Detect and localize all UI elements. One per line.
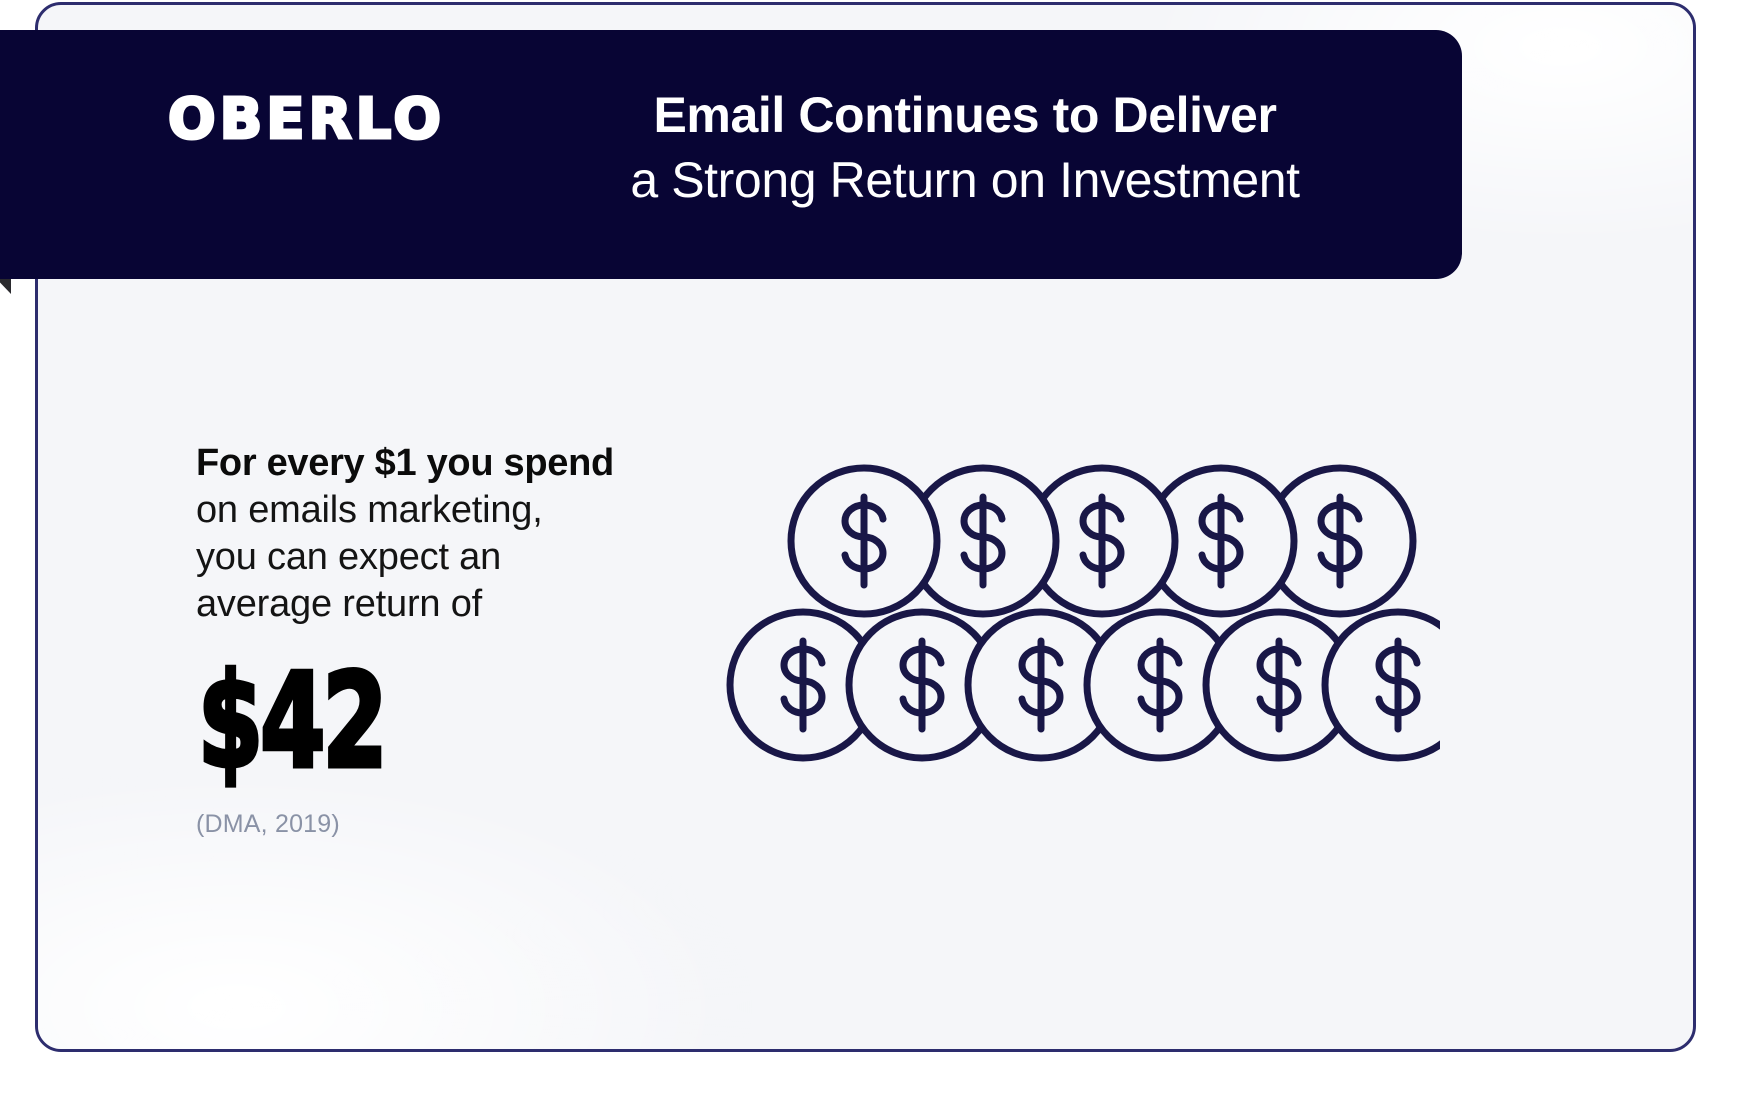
infographic-root: OBERLO Email Continues to Deliver a Stro… (0, 0, 1740, 1105)
oberlo-wordmark-icon: OBERLO (168, 92, 445, 148)
page-title: Email Continues to Deliver a Strong Retu… (500, 86, 1430, 210)
top-row-coins (791, 468, 1413, 614)
bottom-row-coins (730, 612, 1440, 758)
copy-block: For every $1 you spend on emails marketi… (196, 440, 716, 839)
copy-lead: For every $1 you spend (196, 440, 716, 487)
copy-paragraph: on emails marketing, you can expect an a… (196, 487, 716, 628)
page-title-line-1: Email Continues to Deliver (500, 86, 1430, 145)
source-citation: (DMA, 2019) (196, 810, 716, 839)
stat-value: $42 (198, 656, 571, 786)
page-title-line-2: a Strong Return on Investment (500, 151, 1430, 210)
dollar-coin-pictogram (700, 448, 1440, 788)
